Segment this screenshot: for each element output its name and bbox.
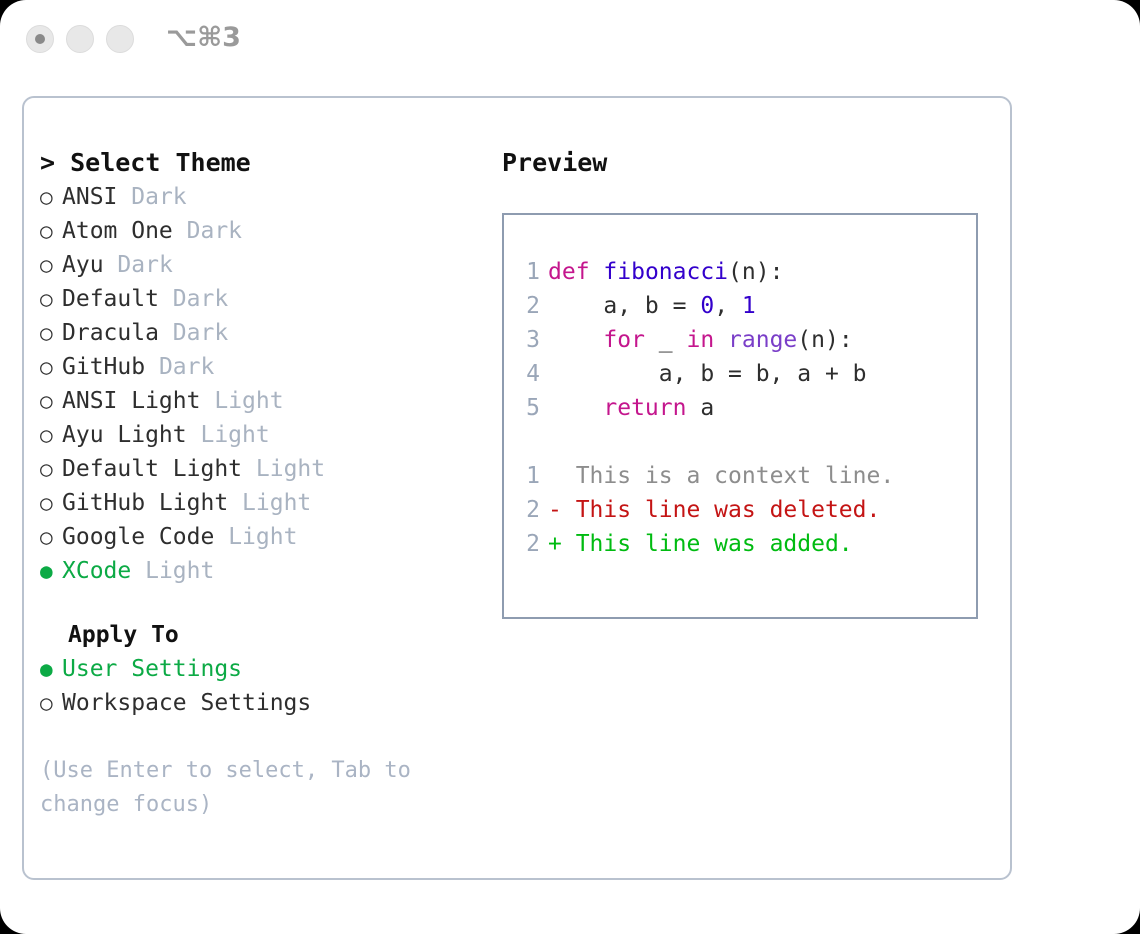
theme-selection-pane: > Select Theme ○ANSI Dark○Atom One Dark○…: [40, 146, 480, 822]
spacer: [514, 425, 970, 459]
diff-marker: [548, 463, 576, 489]
radio-unselected-icon[interactable]: ○: [40, 350, 62, 384]
code-token: return: [603, 395, 686, 421]
code-token: _: [645, 327, 687, 353]
theme-list-item[interactable]: ○Ayu Dark: [40, 248, 480, 282]
theme-list-item[interactable]: ○Ayu Light Light: [40, 418, 480, 452]
line-number: 2: [514, 493, 540, 527]
code-line: 1def fibonacci(n):: [514, 255, 970, 289]
space: [145, 354, 159, 380]
radio-unselected-icon[interactable]: ○: [40, 282, 62, 316]
theme-name: Ayu Light: [62, 422, 187, 448]
space: [228, 490, 242, 516]
code-token: 1: [742, 293, 756, 319]
theme-name: XCode: [62, 558, 131, 584]
app-window: ⌥⌘3 > Select Theme ○ANSI Dark○Atom One D…: [0, 0, 1140, 934]
theme-list-item[interactable]: ○GitHub Dark: [40, 350, 480, 384]
code-token: ,: [714, 293, 742, 319]
theme-kind-badge: Dark: [159, 354, 214, 380]
radio-unselected-icon[interactable]: ○: [40, 686, 62, 720]
theme-kind-badge: Dark: [117, 252, 172, 278]
code-token: [590, 259, 604, 285]
keyboard-shortcut-label: ⌥⌘3: [166, 22, 241, 53]
radio-unselected-icon[interactable]: ○: [40, 520, 62, 554]
preview-heading: Preview: [502, 146, 992, 180]
line-number: 1: [514, 459, 540, 493]
theme-list-item[interactable]: ○Atom One Dark: [40, 214, 480, 248]
title-bar: ⌥⌘3: [0, 0, 1140, 78]
space: [159, 320, 173, 346]
theme-kind-badge: Light: [228, 524, 297, 550]
code-token: a, b =: [548, 293, 700, 319]
theme-name: Default Light: [62, 456, 242, 482]
code-lines: 1def fibonacci(n):2 a, b = 0, 13 for _ i…: [514, 255, 970, 425]
preview-pane: Preview 1def fibonacci(n):2 a, b = 0, 13…: [502, 146, 992, 619]
diff-line: 2+ This line was added.: [514, 527, 970, 561]
apply-to-label: Apply To: [40, 618, 480, 652]
radio-selected-icon[interactable]: ●: [40, 652, 62, 686]
minimize-button[interactable]: [66, 25, 94, 53]
space: [159, 286, 173, 312]
radio-unselected-icon[interactable]: ○: [40, 248, 62, 282]
code-line: 5 return a: [514, 391, 970, 425]
theme-kind-badge: Light: [256, 456, 325, 482]
radio-unselected-icon[interactable]: ○: [40, 452, 62, 486]
code-token: [548, 395, 603, 421]
theme-name: ANSI: [62, 184, 117, 210]
code-token: 0: [700, 293, 714, 319]
apply-to-option[interactable]: ○Workspace Settings: [40, 686, 480, 720]
select-theme-heading: > Select Theme: [40, 146, 480, 180]
line-number: 1: [514, 255, 540, 289]
apply-to-option[interactable]: ●User Settings: [40, 652, 480, 686]
theme-name: Ayu: [62, 252, 104, 278]
diff-text: This is a context line.: [576, 463, 895, 489]
theme-name: Default: [62, 286, 159, 312]
theme-list-item[interactable]: ○Dracula Dark: [40, 316, 480, 350]
theme-kind-badge: Dark: [173, 286, 228, 312]
code-line: 3 for _ in range(n):: [514, 323, 970, 357]
space: [131, 558, 145, 584]
code-sample: 1def fibonacci(n):2 a, b = 0, 13 for _ i…: [514, 255, 970, 561]
theme-kind-badge: Light: [242, 490, 311, 516]
code-token: (n):: [728, 259, 783, 285]
theme-picker-card: > Select Theme ○ANSI Dark○Atom One Dark○…: [22, 96, 1012, 880]
zoom-button[interactable]: [106, 25, 134, 53]
theme-list-item[interactable]: ●XCode Light: [40, 554, 480, 588]
theme-list-item[interactable]: ○ANSI Dark: [40, 180, 480, 214]
code-token: def: [548, 259, 590, 285]
theme-kind-badge: Dark: [187, 218, 242, 244]
code-token: [714, 327, 728, 353]
diff-marker: +: [548, 531, 576, 557]
theme-list-item[interactable]: ○GitHub Light Light: [40, 486, 480, 520]
theme-list: ○ANSI Dark○Atom One Dark○Ayu Dark○Defaul…: [40, 180, 480, 588]
code-line: 4 a, b = b, a + b: [514, 357, 970, 391]
theme-name: Atom One: [62, 218, 173, 244]
diff-line: 2- This line was deleted.: [514, 493, 970, 527]
diff-text: This line was deleted.: [576, 497, 881, 523]
space: [187, 422, 201, 448]
code-token: (n):: [797, 327, 852, 353]
theme-name: GitHub: [62, 354, 145, 380]
theme-name: ANSI Light: [62, 388, 200, 414]
apply-to-option-label: Workspace Settings: [62, 690, 311, 716]
theme-kind-badge: Dark: [173, 320, 228, 346]
diff-marker: -: [548, 497, 576, 523]
apply-to-options: ●User Settings○Workspace Settings: [40, 652, 480, 720]
radio-unselected-icon[interactable]: ○: [40, 418, 62, 452]
keyboard-hint-text: (Use Enter to select, Tab to change focu…: [40, 754, 440, 822]
radio-unselected-icon[interactable]: ○: [40, 316, 62, 350]
radio-unselected-icon[interactable]: ○: [40, 214, 62, 248]
diff-lines: 1 This is a context line.2- This line wa…: [514, 459, 970, 561]
apply-to-option-label: User Settings: [62, 656, 242, 682]
theme-list-item[interactable]: ○Default Light Light: [40, 452, 480, 486]
radio-selected-icon[interactable]: ●: [40, 554, 62, 588]
theme-name: Dracula: [62, 320, 159, 346]
code-token: range: [728, 327, 797, 353]
theme-kind-badge: Light: [145, 558, 214, 584]
close-button[interactable]: [26, 25, 54, 53]
code-token: a, b = b, a + b: [548, 361, 867, 387]
apply-to-section: Apply To ●User Settings○Workspace Settin…: [40, 618, 480, 720]
theme-list-item[interactable]: ○Google Code Light: [40, 520, 480, 554]
code-token: a: [686, 395, 714, 421]
space: [117, 184, 131, 210]
diff-text: This line was added.: [576, 531, 853, 557]
theme-list-item[interactable]: ○ANSI Light Light: [40, 384, 480, 418]
space: [104, 252, 118, 278]
diff-line: 1 This is a context line.: [514, 459, 970, 493]
line-number: 4: [514, 357, 540, 391]
theme-name: Google Code: [62, 524, 214, 550]
radio-unselected-icon[interactable]: ○: [40, 384, 62, 418]
line-number: 2: [514, 289, 540, 323]
line-number: 3: [514, 323, 540, 357]
space: [173, 218, 187, 244]
theme-kind-badge: Light: [200, 422, 269, 448]
theme-kind-badge: Dark: [131, 184, 186, 210]
code-token: [548, 327, 603, 353]
theme-name: GitHub Light: [62, 490, 228, 516]
theme-kind-badge: Light: [214, 388, 283, 414]
radio-unselected-icon[interactable]: ○: [40, 180, 62, 214]
code-token: fibonacci: [603, 259, 728, 285]
space: [214, 524, 228, 550]
line-number: 2: [514, 527, 540, 561]
code-token: for: [603, 327, 645, 353]
space: [200, 388, 214, 414]
theme-list-item[interactable]: ○Default Dark: [40, 282, 480, 316]
code-token: in: [686, 327, 714, 353]
radio-unselected-icon[interactable]: ○: [40, 486, 62, 520]
preview-panel: 1def fibonacci(n):2 a, b = 0, 13 for _ i…: [502, 213, 978, 619]
code-line: 2 a, b = 0, 1: [514, 289, 970, 323]
space: [242, 456, 256, 482]
line-number: 5: [514, 391, 540, 425]
